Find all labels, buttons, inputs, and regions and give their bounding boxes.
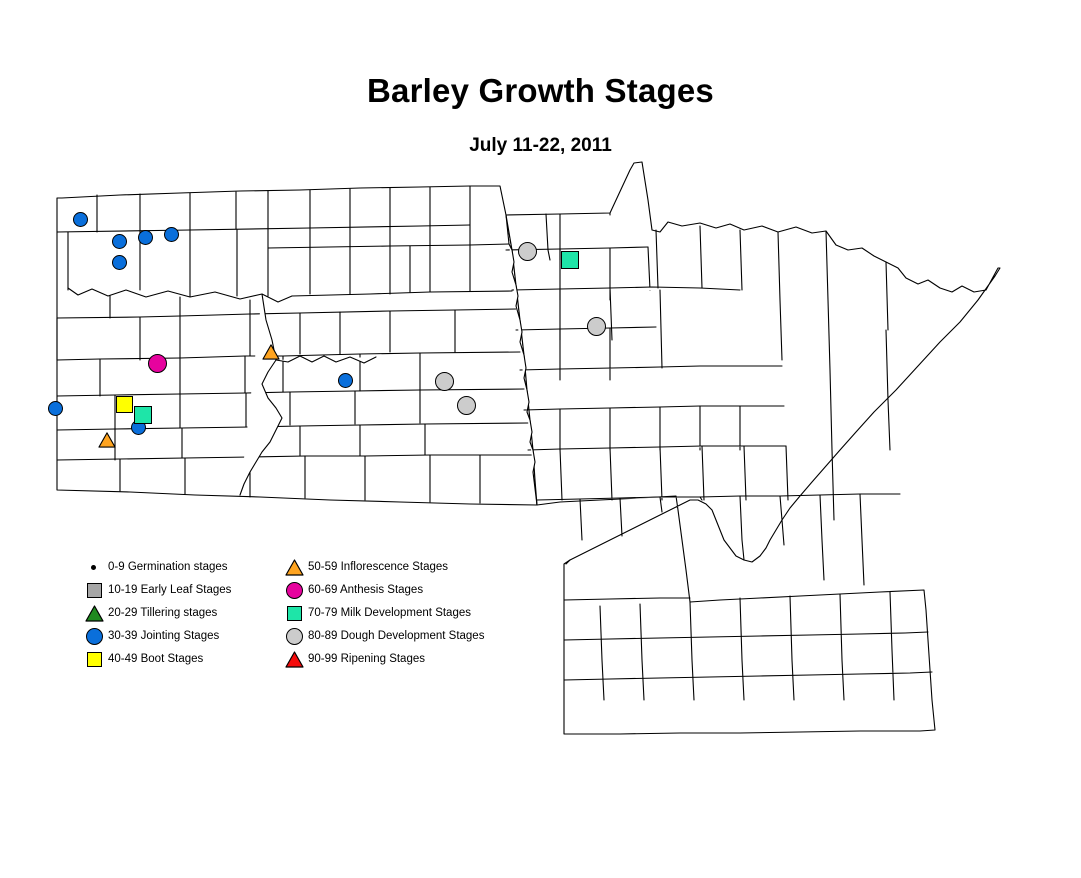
map-marker-circle[interactable] [73,212,88,227]
map-marker-square[interactable] [134,406,152,424]
tillering-triangle-icon [85,605,104,622]
legend-symbol [282,625,308,648]
jointing-circle-icon [86,628,103,645]
legend-symbol [82,579,108,602]
legend-symbol [82,625,108,648]
map-marker-circle[interactable] [338,373,353,388]
legend-item-left-0[interactable]: 0-9 Germination stages [82,556,282,579]
map-marker-square[interactable] [116,396,133,413]
minnesota-outline [506,162,1000,734]
legend-item-left-1[interactable]: 10-19 Early Leaf Stages [82,579,282,602]
legend-item-left-2[interactable]: 20-29 Tillering stages [82,602,282,625]
map-page: Barley Growth Stages July 11-22, 2011 [0,0,1081,878]
legend-label: 0-9 Germination stages [108,562,228,574]
legend-symbol [282,556,308,579]
germination-dot-icon [91,565,96,570]
map-marker-circle[interactable] [48,401,63,416]
legend-label: 80-89 Dough Development Stages [308,631,484,643]
map-marker-circle[interactable] [518,242,537,261]
map-marker-triangle[interactable] [98,431,116,449]
legend-symbol [82,556,108,579]
legend-label: 70-79 Milk Development Stages [308,608,471,620]
state-county-map [0,0,1081,878]
legend-symbol [82,602,108,625]
legend-label: 50-59 Inflorescence Stages [308,562,448,574]
legend: 0-9 Germination stages10-19 Early Leaf S… [82,556,522,672]
map-marker-circle[interactable] [587,317,606,336]
legend-item-right-0[interactable]: 50-59 Inflorescence Stages [282,556,522,579]
map-marker-circle[interactable] [112,234,127,249]
legend-label: 60-69 Anthesis Stages [308,585,423,597]
early-leaf-square-icon [87,583,102,598]
legend-label: 40-49 Boot Stages [108,654,203,666]
legend-symbol [282,579,308,602]
anthesis-circle-icon [286,582,303,599]
legend-label: 20-29 Tillering stages [108,608,217,620]
north-dakota-outline [57,186,537,505]
legend-column-left: 0-9 Germination stages10-19 Early Leaf S… [82,556,282,671]
legend-column-right: 50-59 Inflorescence Stages60-69 Anthesis… [282,556,522,671]
map-marker-triangle[interactable] [262,343,280,361]
legend-label: 30-39 Jointing Stages [108,631,219,643]
inflorescence-triangle-icon [285,559,304,576]
legend-item-right-2[interactable]: 70-79 Milk Development Stages [282,602,522,625]
legend-symbol [282,602,308,625]
map-marker-circle[interactable] [148,354,167,373]
legend-item-right-3[interactable]: 80-89 Dough Development Stages [282,625,522,648]
milk-square-icon [287,606,302,621]
legend-label: 90-99 Ripening Stages [308,654,425,666]
legend-item-right-4[interactable]: 90-99 Ripening Stages [282,648,522,671]
legend-label: 10-19 Early Leaf Stages [108,585,231,597]
legend-item-right-1[interactable]: 60-69 Anthesis Stages [282,579,522,602]
map-marker-circle[interactable] [457,396,476,415]
map-marker-circle[interactable] [435,372,454,391]
legend-symbol [282,648,308,671]
legend-symbol [82,648,108,671]
map-marker-circle[interactable] [164,227,179,242]
map-marker-circle[interactable] [138,230,153,245]
map-canvas [0,0,1081,878]
ripening-triangle-icon [285,651,304,668]
legend-item-left-4[interactable]: 40-49 Boot Stages [82,648,282,671]
map-marker-circle[interactable] [112,255,127,270]
legend-item-left-3[interactable]: 30-39 Jointing Stages [82,625,282,648]
boot-square-icon [87,652,102,667]
dough-circle-icon [286,628,303,645]
map-marker-square[interactable] [561,251,579,269]
